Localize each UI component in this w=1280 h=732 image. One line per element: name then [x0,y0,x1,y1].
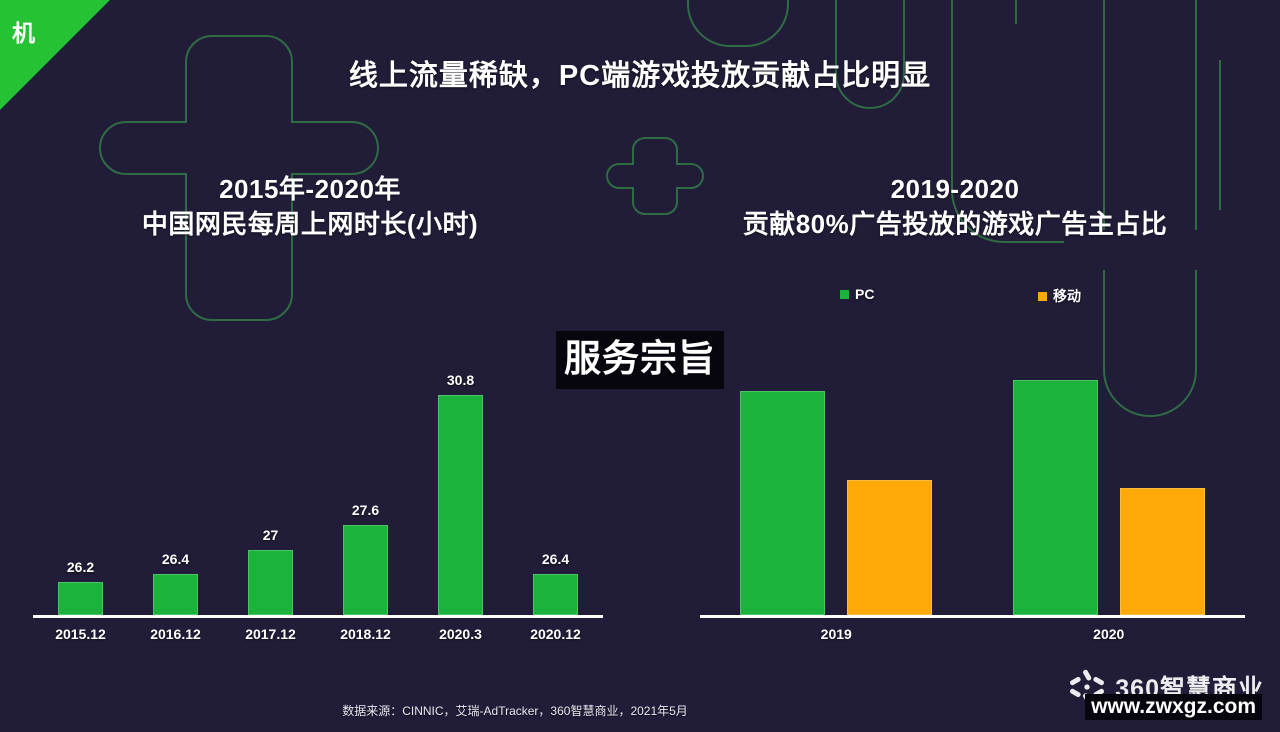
left-chart-heading-line1: 2015年-2020年 [30,172,590,206]
chart-weekly-internet-hours: 26.226.42727.630.826.4 [33,330,603,618]
chart-legend: PC 移动 [650,284,1260,308]
square-swatch-icon [1038,292,1047,301]
bar-2020-PC [1013,380,1098,615]
category-label: 2019 [776,626,896,642]
bar-2015.12 [58,582,103,615]
bar-2020.3 [438,395,483,616]
bar-value-label: 27.6 [326,502,406,518]
site-watermark: www.zwxgz.com [1085,694,1262,720]
bar-2017.12 [248,550,293,615]
square-swatch-icon [840,290,849,299]
left-chart-heading-line2: 中国网民每周上网时长(小时) [30,206,590,242]
slide-canvas: 机 线上流量稀缺，PC端游戏投放贡献占比明显 2015年-2020年 中国网民每… [0,0,1280,732]
category-label: 2020.12 [508,626,604,642]
legend-item-mobile[interactable]: 移动 [1038,286,1081,306]
category-label: 2017.12 [223,626,319,642]
corner-ribbon-label: 机 [12,22,35,45]
category-label: 2015.12 [33,626,129,642]
bar-2016.12 [153,574,198,615]
right-chart-heading-line2: 贡献80%广告投放的游戏广告主占比 [650,206,1260,242]
bar-2018.12 [343,525,388,615]
right-chart-heading: 2019-2020 贡献80%广告投放的游戏广告主占比 [650,172,1260,242]
chart-left-axis [33,615,603,618]
page-title: 线上流量稀缺，PC端游戏投放贡献占比明显 [0,52,1280,94]
bar-value-label: 26.2 [41,559,121,575]
bar-2020-移动 [1120,488,1205,616]
left-chart-heading: 2015年-2020年 中国网民每周上网时长(小时) [30,172,590,242]
bar-value-label: 26.4 [136,551,216,567]
chart-right-axis [700,615,1245,618]
legend-item-pc[interactable]: PC [840,286,874,302]
chart-right-bars [700,327,1245,615]
chart-left-bars: 26.226.42727.630.826.4 [33,327,603,615]
chart-game-advertiser-share [700,330,1245,618]
right-chart-heading-line1: 2019-2020 [650,172,1260,206]
chart-left-category-labels: 2015.122016.122017.122018.122020.32020.1… [33,626,603,650]
legend-item-pc-label: PC [855,286,874,302]
category-label: 2020.3 [413,626,509,642]
legend-item-mobile-label: 移动 [1053,286,1081,306]
bar-2020.12 [533,574,578,615]
bar-2019-移动 [847,480,932,615]
category-label: 2020 [1049,626,1169,642]
chart-right-category-labels: 20192020 [700,626,1245,650]
bar-2019-PC [740,391,825,615]
category-label: 2018.12 [318,626,414,642]
bar-value-label: 26.4 [516,551,596,567]
category-label: 2016.12 [128,626,224,642]
overlay-slogan: 服务宗旨 [556,331,724,389]
source-note: 数据来源：CINNIC，艾瑞-AdTracker，360智慧商业，2021年5月 [0,702,1030,719]
bar-value-label: 30.8 [421,372,501,388]
bar-value-label: 27 [231,527,311,543]
